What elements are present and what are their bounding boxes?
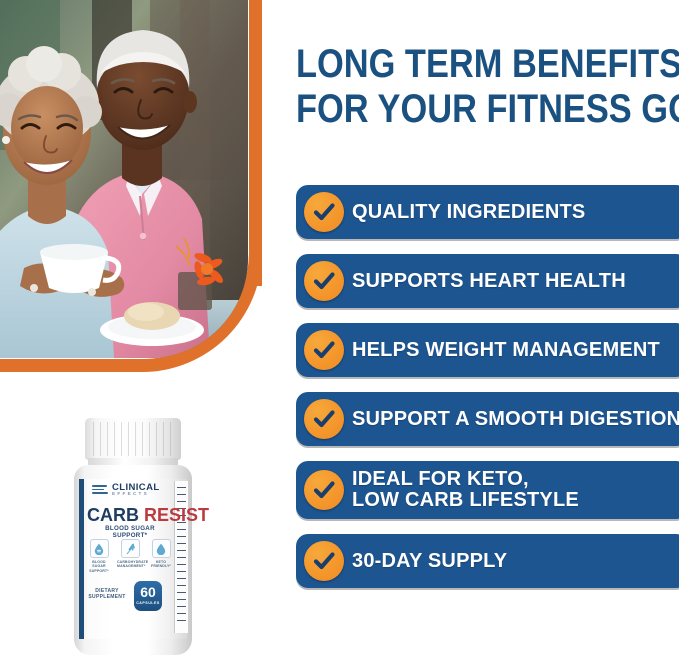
orange-frame-vertical-bar [249, 0, 262, 286]
label-icon-row: BLOOD SUGAR SUPPORT* CARBOHYDRATE MANAGE… [86, 539, 174, 573]
check-circle-icon [304, 192, 344, 232]
benefit-bar[interactable]: SUPPORTS HEART HEALTH [296, 254, 679, 308]
label-icon-carb: CARBOHYDRATE MANAGEMENT* [117, 539, 143, 573]
headline-line-2: FOR YOUR FITNESS GOALS [296, 87, 623, 132]
benefit-label: SUPPORTS HEART HEALTH [352, 271, 626, 292]
label-side-panel [174, 481, 188, 633]
check-circle-icon [304, 261, 344, 301]
check-circle-icon [304, 470, 344, 510]
brand-subname: EFFECTS [112, 491, 149, 496]
icon-caption: BLOOD SUGAR SUPPORT* [86, 560, 112, 573]
bottle-cap [85, 418, 181, 460]
benefit-label: IDEAL FOR KETO, LOW CARB LIFESTYLE [352, 469, 579, 511]
benefit-label: 30-DAY SUPPLY [352, 551, 507, 572]
page-title: LONG TERM BENEFITS FOR YOUR FITNESS GOAL… [296, 42, 623, 132]
product-bottle: CLINICAL EFFECTS CARB RESIST BLOOD SUGAR… [62, 418, 204, 655]
headline-line-1: LONG TERM BENEFITS [296, 42, 679, 86]
product-tagline: BLOOD SUGAR SUPPORT* [87, 525, 173, 539]
blood-drop-icon [90, 539, 109, 558]
label-icon-keto: KETO FRIENDLY* [148, 539, 174, 573]
benefit-label: QUALITY INGREDIENTS [352, 202, 585, 223]
benefit-bar[interactable]: 30-DAY SUPPLY [296, 534, 679, 588]
label-icon-blood-sugar: BLOOD SUGAR SUPPORT* [86, 539, 112, 573]
dietary-supplement-text: DIETARY SUPPLEMENT [84, 588, 130, 601]
icon-caption: CARBOHYDRATE MANAGEMENT* [117, 560, 143, 569]
benefit-label: HELPS WEIGHT MANAGEMENT [352, 340, 660, 361]
benefit-bar[interactable]: HELPS WEIGHT MANAGEMENT [296, 323, 679, 377]
benefits-list: QUALITY INGREDIENTS SUPPORTS HEART HEALT… [296, 185, 679, 603]
label-footer: DIETARY SUPPLEMENT 60 CAPSULES [84, 581, 176, 611]
benefit-bar[interactable]: IDEAL FOR KETO, LOW CARB LIFESTYLE [296, 461, 679, 519]
capsule-count-badge: 60 CAPSULES [134, 581, 162, 611]
check-circle-icon [304, 541, 344, 581]
icon-caption: KETO FRIENDLY* [148, 560, 174, 569]
label-accent-stripe [79, 479, 84, 639]
product-benefits-graphic: LONG TERM BENEFITS FOR YOUR FITNESS GOAL… [0, 0, 679, 655]
lifestyle-photo-block [0, 0, 268, 390]
check-circle-icon [304, 330, 344, 370]
product-name: CARB RESIST [87, 506, 173, 524]
check-circle-icon [304, 399, 344, 439]
couple-photo [0, 0, 248, 358]
benefit-bar[interactable]: QUALITY INGREDIENTS [296, 185, 679, 239]
wheat-icon [121, 539, 140, 558]
keto-drop-icon [152, 539, 171, 558]
benefit-label: SUPPORT A SMOOTH DIGESTION [352, 409, 679, 430]
benefit-bar[interactable]: SUPPORT A SMOOTH DIGESTION [296, 392, 679, 446]
